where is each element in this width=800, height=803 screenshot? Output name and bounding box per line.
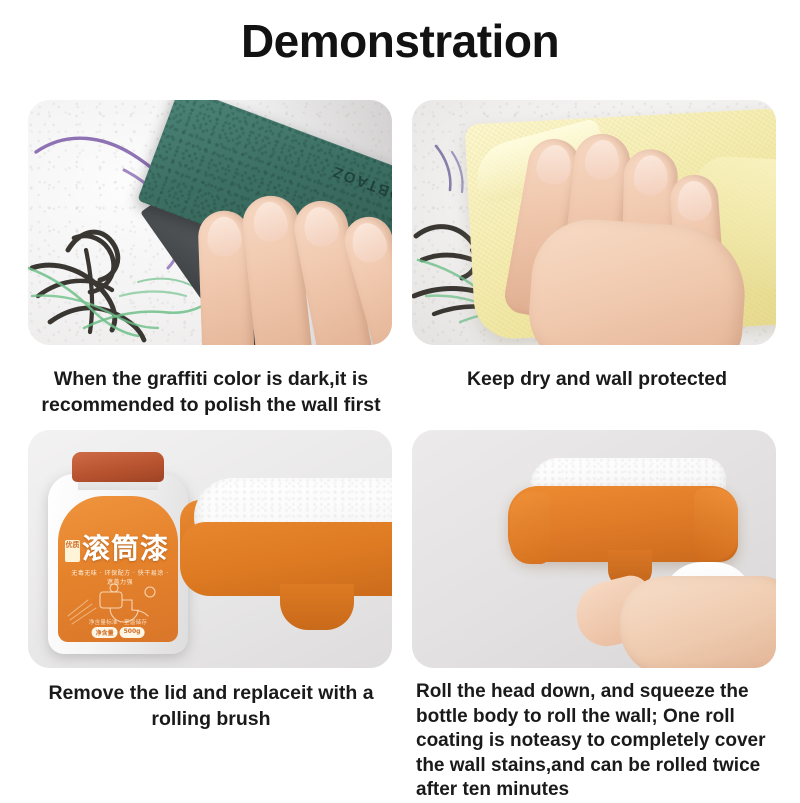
step-2-caption: Keep dry and wall protected [404,366,790,392]
label-quality-badge: 优质 [65,540,80,562]
label-footer-text: 净含量标准 · 室温储存 [68,618,168,626]
fingernail [207,216,242,257]
fingernail [534,142,574,187]
roller-frame-arm-right [694,488,738,560]
label-weight-group: 净含量 500g [92,627,145,638]
hand [497,132,761,345]
fingernail [583,138,621,181]
fingernail [251,200,289,243]
step-4-image [412,430,776,668]
step-4-caption: Roll the head down, and squeeze the bott… [416,680,794,803]
step-3-image: 优质 滚筒漆 无毒无味 · 环保配方 · 快干易涂 · 遮盖力强 [28,430,392,668]
paint-bottle: 优质 滚筒漆 无毒无味 · 环保配方 · 快干易涂 · 遮盖力强 [48,450,188,654]
palm [620,576,776,668]
bottle-cap [72,452,164,482]
label-weight-value: 500g [120,627,145,638]
bottle-label: 优质 滚筒漆 无毒无味 · 环保配方 · 快干易涂 · 遮盖力强 [58,496,178,642]
hand [576,566,776,668]
fingernail [676,180,713,222]
infographic-page: Demonstration [0,0,800,800]
roller-frame-arm-left [510,492,550,564]
step-3-caption: Remove the lid and replaceit with a roll… [18,680,404,732]
roller-connector-stem [280,584,354,630]
step-1-caption: When the graffiti color is dark,it is re… [18,366,404,418]
fingernail [347,219,391,267]
step-2-image [412,100,776,345]
label-product-name: 滚筒漆 [82,534,174,564]
label-weight-caption: 净含量 [92,627,118,638]
page-title: Demonstration [0,14,800,68]
fingernail [301,204,342,250]
roller-head [176,472,392,648]
step-1-image: QBTAOZ SHS [28,100,392,345]
fingernail [633,155,668,196]
